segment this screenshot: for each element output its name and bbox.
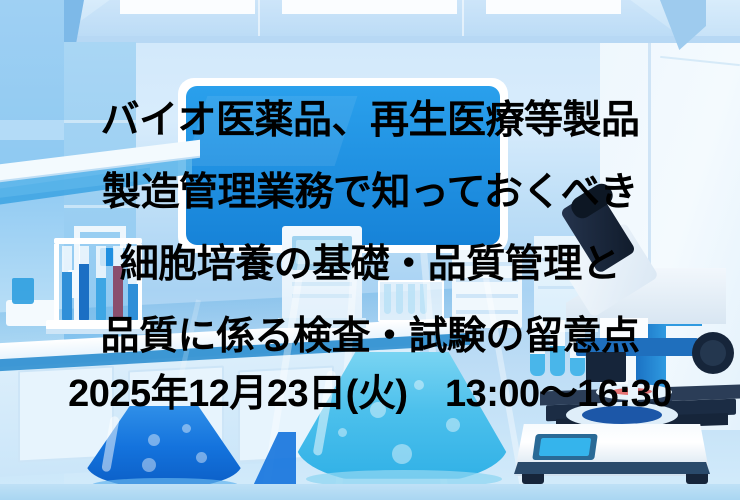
seminar-poster: バイオ医薬品、再生医療等製品 製造管理業務で知っておくべき 細胞培養の基礎・品質… [0, 0, 740, 500]
title-line-2: 製造管理業務で知っておくべき [0, 173, 740, 212]
title-line-4: 品質に係る検査・試験の留意点 [0, 317, 740, 356]
seminar-date-time: 2025年12月23日(火) 13:00～16:30 [0, 375, 740, 413]
title-line-3: 細胞培養の基礎・品質管理と [0, 245, 740, 284]
poster-text-block: バイオ医薬品、再生医療等製品 製造管理業務で知っておくべき 細胞培養の基礎・品質… [0, 0, 740, 500]
title-line-1: バイオ医薬品、再生医療等製品 [0, 101, 740, 140]
